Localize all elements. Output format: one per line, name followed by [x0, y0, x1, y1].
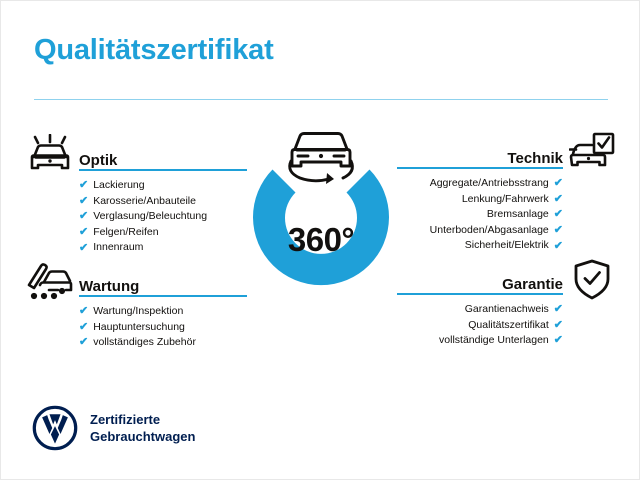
check-icon: ✔: [79, 180, 88, 191]
check-icon: ✔: [79, 211, 88, 222]
list-item: ✔Karosserie/Anbauteile: [79, 194, 247, 210]
section-technik-divider: [397, 167, 563, 169]
check-icon: ✔: [79, 322, 88, 333]
list-item: ✔vollständiges Zubehör: [79, 335, 247, 351]
check-icon: ✔: [79, 243, 88, 254]
check-icon: ✔: [554, 241, 563, 252]
footer-line-1: Zertifizierte: [90, 411, 195, 428]
list-item: vollständige Unterlagen✔: [397, 333, 563, 349]
check-icon: ✔: [554, 209, 563, 220]
list-item-label: Bremsanlage: [487, 207, 549, 223]
list-item-label: vollständige Unterlagen: [439, 333, 549, 349]
check-icon: ✔: [554, 335, 563, 346]
list-item-label: Karosserie/Anbauteile: [93, 194, 196, 210]
section-garantie-title: Garantie: [502, 276, 563, 293]
footer-line-2: Gebrauchtwagen: [90, 428, 195, 445]
list-item-label: Innenraum: [93, 240, 143, 256]
check-icon: ✔: [554, 194, 563, 205]
check-icon: ✔: [554, 304, 563, 315]
badge-center-label: 360°: [228, 221, 414, 259]
list-item: ✔Felgen/Reifen: [79, 225, 247, 241]
section-technik-title: Technik: [507, 150, 563, 167]
footer-brand: Zertifizierte Gebrauchtwagen: [32, 405, 195, 451]
car-checkbox-icon: [569, 132, 615, 179]
footer-brand-text: Zertifizierte Gebrauchtwagen: [90, 411, 195, 445]
section-wartung-title: Wartung: [79, 278, 139, 295]
section-garantie: Garantie Garantienachweis✔ Qualitätszert…: [397, 265, 563, 349]
section-technik-list: Aggregate/Antriebsstrang✔ Lenkung/Fahrwe…: [397, 176, 563, 254]
check-icon: ✔: [554, 225, 563, 236]
list-item-label: Lenkung/Fahrwerk: [462, 192, 549, 208]
section-wartung-header: Wartung: [79, 267, 247, 297]
list-item: Sicherheit/Elektrik✔: [397, 238, 563, 254]
title-divider: [34, 99, 608, 100]
section-optik-header: Optik: [79, 141, 247, 171]
check-icon: ✔: [554, 320, 563, 331]
section-garantie-list: Garantienachweis✔ Qualitätszertifikat✔ v…: [397, 302, 563, 349]
section-technik: Technik Aggregate/Antriebsstrang✔ Lenkun…: [397, 139, 563, 254]
section-optik: Optik ✔Lackierung ✔Karosserie/Anbauteile…: [79, 141, 247, 256]
list-item: Unterboden/Abgasanlage✔: [397, 223, 563, 239]
list-item-label: Lackierung: [93, 178, 144, 194]
shield-check-icon: [573, 259, 611, 306]
list-item: Bremsanlage✔: [397, 207, 563, 223]
list-item: Qualitätszertifikat✔: [397, 318, 563, 334]
section-garantie-header: Garantie: [397, 265, 563, 295]
list-item-label: vollständiges Zubehör: [93, 335, 196, 351]
list-item: Lenkung/Fahrwerk✔: [397, 192, 563, 208]
list-item-label: Hauptuntersuchung: [93, 320, 185, 336]
car-rotate-icon: [290, 134, 353, 185]
vw-logo: [32, 405, 78, 451]
list-item: ✔Wartung/Inspektion: [79, 304, 247, 320]
list-item-label: Felgen/Reifen: [93, 225, 158, 241]
list-item-label: Garantienachweis: [465, 302, 549, 318]
section-optik-title: Optik: [79, 152, 117, 169]
section-wartung-list: ✔Wartung/Inspektion ✔Hauptuntersuchung ✔…: [79, 304, 247, 351]
check-icon: ✔: [79, 306, 88, 317]
list-item-label: Unterboden/Abgasanlage: [430, 223, 549, 239]
list-item-label: Verglasung/Beleuchtung: [93, 209, 207, 225]
list-item: ✔Verglasung/Beleuchtung: [79, 209, 247, 225]
car-shine-icon: [27, 134, 73, 181]
list-item-label: Aggregate/Antriebsstrang: [430, 176, 549, 192]
section-technik-header: Technik: [397, 139, 563, 169]
check-icon: ✔: [79, 337, 88, 348]
section-optik-list: ✔Lackierung ✔Karosserie/Anbauteile ✔Verg…: [79, 178, 247, 256]
list-item-label: Sicherheit/Elektrik: [465, 238, 549, 254]
list-item: Garantienachweis✔: [397, 302, 563, 318]
section-optik-divider: [79, 169, 247, 171]
check-icon: ✔: [79, 196, 88, 207]
section-wartung: Wartung ✔Wartung/Inspektion ✔Hauptunters…: [79, 267, 247, 351]
list-item-label: Wartung/Inspektion: [93, 304, 183, 320]
certificate-page: Qualitätszertifikat Optik ✔Lackierung ✔K…: [0, 0, 640, 480]
check-icon: ✔: [554, 178, 563, 189]
list-item: Aggregate/Antriebsstrang✔: [397, 176, 563, 192]
page-title: Qualitätszertifikat: [34, 34, 274, 67]
section-garantie-divider: [397, 293, 563, 295]
list-item: ✔Hauptuntersuchung: [79, 320, 247, 336]
list-item: ✔Lackierung: [79, 178, 247, 194]
check-icon: ✔: [79, 227, 88, 238]
service-pen-car-icon: [25, 260, 75, 307]
badge-360-gebrauchtwagen-check: Gebrauchtwagen-Check 360°: [228, 119, 414, 309]
section-wartung-divider: [79, 295, 247, 297]
list-item-label: Qualitätszertifikat: [468, 318, 549, 334]
list-item: ✔Innenraum: [79, 240, 247, 256]
